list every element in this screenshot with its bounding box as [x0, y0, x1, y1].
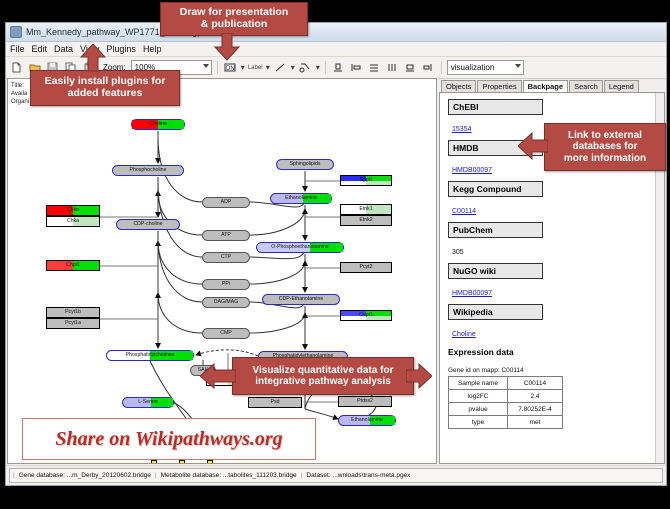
callout-arrow-down-icon [213, 33, 241, 61]
callout-arrow-right-icon [406, 363, 432, 389]
align-stack-icon[interactable] [367, 60, 382, 75]
tab-legend[interactable]: Legend [604, 80, 639, 92]
toolbar-separator [441, 61, 442, 74]
metabolite-node-phosphocholine[interactable]: Phosphocholine [112, 165, 184, 176]
table-cell-key: Sample name [449, 377, 508, 390]
table-cell-value: 7.80252E-4 [508, 403, 563, 416]
status-divider: | [13, 472, 15, 479]
tab-backpage[interactable]: Backpage [523, 80, 568, 92]
visualization-value: visualization [451, 63, 495, 72]
gene-node-chkb[interactable]: Chkb [46, 205, 100, 216]
status-divider: | [301, 472, 303, 479]
selection-handle[interactable] [151, 460, 157, 464]
gene-node-etnk2[interactable]: Etnk2 [340, 215, 392, 226]
chevron-down-icon[interactable] [203, 64, 209, 68]
table-cell-key: log2FC [449, 390, 508, 403]
callout-link-to-external-databases: Link to external databases for more info… [544, 123, 666, 171]
node-label: L-Serine [138, 400, 158, 405]
expression-table: Sample name C00114 log2FC 2.4 pvalue 7.8… [448, 376, 563, 429]
gene-node-chka[interactable]: Chka [46, 216, 100, 227]
gene-node-chpt1[interactable]: Chpt1 [46, 260, 100, 271]
node-label: Psd [271, 400, 280, 405]
menu-item-data[interactable]: Data [54, 44, 73, 54]
metabolite-node-choline-top[interactable]: Choline [131, 119, 185, 130]
status-divider: | [155, 472, 157, 479]
node-label: CTP [221, 255, 231, 260]
node-label: DAG/MAG [214, 300, 239, 305]
callout-arrow-up-icon [80, 44, 106, 72]
table-cell-value: 2.4 [508, 390, 563, 403]
title-bar: Mm_Kennedy_pathway_WP1771_45176.gpml [6, 23, 666, 42]
new-file-icon[interactable] [9, 60, 24, 75]
table-row: Sample name C00114 [449, 377, 563, 390]
visualization-combo[interactable]: visualization [447, 60, 524, 75]
callout-easily-install-plugins: Easily install plugins for added feature… [30, 70, 180, 106]
selection-handle[interactable] [179, 460, 185, 464]
status-dataset: Dataset: ...wnloads\trans-meta.pgex [306, 472, 410, 479]
gene-node-pcyt1a[interactable]: Pcyt1a [46, 318, 100, 329]
gene-node-pcyt2[interactable]: Pcyt2 [340, 262, 392, 273]
node-label: Pcyt1b [65, 310, 81, 315]
share-text: Share on Wikipathways.org [55, 428, 282, 451]
db-header-kegg-compound: Kegg Compound [448, 181, 543, 197]
table-row: type met [449, 416, 563, 429]
align-right-icon[interactable] [421, 60, 436, 75]
pathway-canvas[interactable]: Title: Availa Organi [7, 78, 437, 464]
line-tool-icon[interactable] [273, 60, 288, 75]
metabolite-node-ethanolamine-bottom[interactable]: Ethanolamine [338, 415, 396, 426]
svg-text:DN: DN [226, 66, 235, 72]
node-label: Cept1 [359, 313, 373, 318]
node-label: Phosphocholine [130, 168, 167, 173]
callout-draw-for-presentation: Draw for presentation & publication [160, 2, 308, 36]
status-bar: | Gene database: ...m_Derby_20120602.bri… [6, 465, 666, 485]
node-label: O-Phosphoethanolamine [271, 245, 328, 250]
metabolite-node-cdp-ethanolamine[interactable]: CDP-Ethanolamine [262, 294, 340, 305]
db-link-nugo-wiki[interactable]: HMDB00097 [452, 290, 492, 297]
chevron-down-icon[interactable] [515, 64, 521, 68]
status-gene-database: Gene database: ...m_Derby_20120602.bridg… [19, 472, 151, 479]
table-cell-key: type [449, 416, 508, 429]
node-label: Chkb [67, 208, 79, 213]
label-tool-icon[interactable]: Label [248, 60, 263, 75]
align-top-icon[interactable] [331, 60, 346, 75]
callout-arrow-left-icon [200, 363, 236, 389]
align-bottom-icon[interactable] [403, 60, 418, 75]
gene-node-cept1[interactable]: Cept1 [340, 310, 392, 321]
callout-share-on-wikipathways: Share on Wikipathways.org [22, 418, 316, 460]
node-label: Ethanolamine [351, 418, 383, 423]
metabolite-node-sphingolipids[interactable]: Sphingolipids [276, 159, 334, 170]
cofactor-node-dag-mag[interactable]: DAG/MAG [202, 297, 250, 308]
node-label: Chpt1 [66, 263, 80, 268]
table-cell-value: C00114 [508, 377, 563, 390]
cofactor-node-atp[interactable]: ATP [202, 230, 250, 241]
db-link-chebi[interactable]: 15354 [452, 126, 471, 133]
db-link-wikipedia[interactable]: Choline [452, 331, 476, 338]
db-header-chebi: ChEBI [448, 99, 543, 115]
db-header-nugo-wiki: NuGO wiki [448, 263, 543, 279]
menu-item-plugins[interactable]: Plugins [106, 44, 136, 54]
tab-properties[interactable]: Properties [477, 80, 521, 92]
node-label: ATP [221, 233, 231, 238]
node-label: CDP-Ethanolamine [279, 297, 323, 302]
node-label: Pcyt2 [360, 265, 373, 270]
toolbar-separator [325, 61, 326, 74]
gene-node-ptdss2[interactable]: Ptdss2 [338, 396, 392, 407]
tab-search[interactable]: Search [569, 80, 603, 92]
tab-objects[interactable]: Objects [441, 80, 476, 92]
gene-node-sgpl1[interactable]: Sgpl1 [340, 175, 392, 186]
metabolite-node-ethanolamine-top[interactable]: Ethanolamine [270, 193, 332, 204]
node-label: CDP-choline [133, 222, 162, 227]
node-label: Etnk1 [359, 207, 372, 212]
cofactor-node-adp[interactable]: ADP [202, 197, 250, 208]
db-value-pubchem: 305 [452, 249, 464, 256]
db-header-pubchem: PubChem [448, 222, 543, 238]
node-label: Pcyt1a [65, 321, 81, 326]
metabolite-node-l-serine-left[interactable]: L-Serine [122, 397, 174, 408]
align-left-icon[interactable] [349, 60, 364, 75]
node-label: Sphingolipids [290, 162, 321, 167]
table-cell-value: met [508, 416, 563, 429]
menu-item-file[interactable]: File [10, 44, 25, 54]
node-label: ADP [221, 200, 232, 205]
selection-handle[interactable] [207, 460, 213, 464]
gene-node-etnk1[interactable]: Etnk1 [340, 204, 392, 215]
metabolite-node-cdp-choline[interactable]: CDP-choline [116, 219, 180, 230]
anchor-tool-icon[interactable] [298, 60, 313, 75]
pathway-drawing[interactable]: Title: Availa Organi [8, 79, 436, 463]
metabolite-node-phosphatidylcholines[interactable]: Phosphatidylcholines [106, 350, 194, 361]
menu-item-help[interactable]: Help [143, 44, 162, 54]
metabolite-node-o-phosphoethanolamine[interactable]: O-Phosphoethanolamine [256, 242, 344, 253]
side-panel-tabs: Objects Properties Backpage Search Legen… [439, 78, 665, 92]
line-dropdown-icon[interactable]: ▾ [291, 63, 295, 72]
datanode-dropdown-icon[interactable]: ▾ [241, 63, 245, 72]
cofactor-node-ppi[interactable]: PPi [202, 279, 250, 290]
table-row: log2FC 2.4 [449, 390, 563, 403]
gene-node-pcyt1b[interactable]: Pcyt1b [46, 307, 100, 318]
node-label: Ethanolamine [285, 196, 317, 201]
db-link-kegg-compound[interactable]: C00114 [452, 208, 476, 215]
node-label: Phosphatidylcholines [126, 353, 175, 358]
cofactor-node-cmp[interactable]: CMP [202, 328, 250, 339]
node-label: Chka [67, 219, 79, 224]
node-label: Ptdss2 [357, 399, 373, 404]
callout-visualize-quantitative-data: Visualize quantitative data for integrat… [232, 357, 414, 395]
node-label: CMP [220, 331, 232, 336]
gene-id-line: Gene id on mapp: C00114 [448, 367, 656, 374]
distribute-icon[interactable] [385, 60, 400, 75]
node-label: Sgpl1 [359, 178, 372, 183]
db-header-wikipedia: Wikipedia [448, 304, 543, 320]
label-dropdown-icon[interactable]: ▾ [266, 63, 270, 72]
expression-data-heading: Expression data [448, 347, 656, 357]
gene-node-psd[interactable]: Psd [248, 397, 302, 408]
toolbar-separator [217, 61, 218, 74]
anchor-dropdown-icon[interactable]: ▾ [316, 63, 320, 72]
datanode-icon[interactable]: DN [223, 60, 238, 75]
callout-arrow-left-icon [518, 132, 548, 160]
table-cell-key: pvalue [449, 403, 508, 416]
status-metabolite-database: Metabolite database: ...tabolites_111203… [161, 472, 297, 479]
db-link-hmdb[interactable]: HMDB00097 [452, 167, 492, 174]
node-label: Choline [149, 122, 167, 127]
table-row: pvalue 7.80252E-4 [449, 403, 563, 416]
menu-item-edit[interactable]: Edit [32, 44, 48, 54]
node-label: Etnk2 [359, 218, 372, 223]
cofactor-node-ctp[interactable]: CTP [202, 252, 250, 263]
node-label: PPi [222, 282, 230, 287]
app-icon [10, 26, 22, 38]
